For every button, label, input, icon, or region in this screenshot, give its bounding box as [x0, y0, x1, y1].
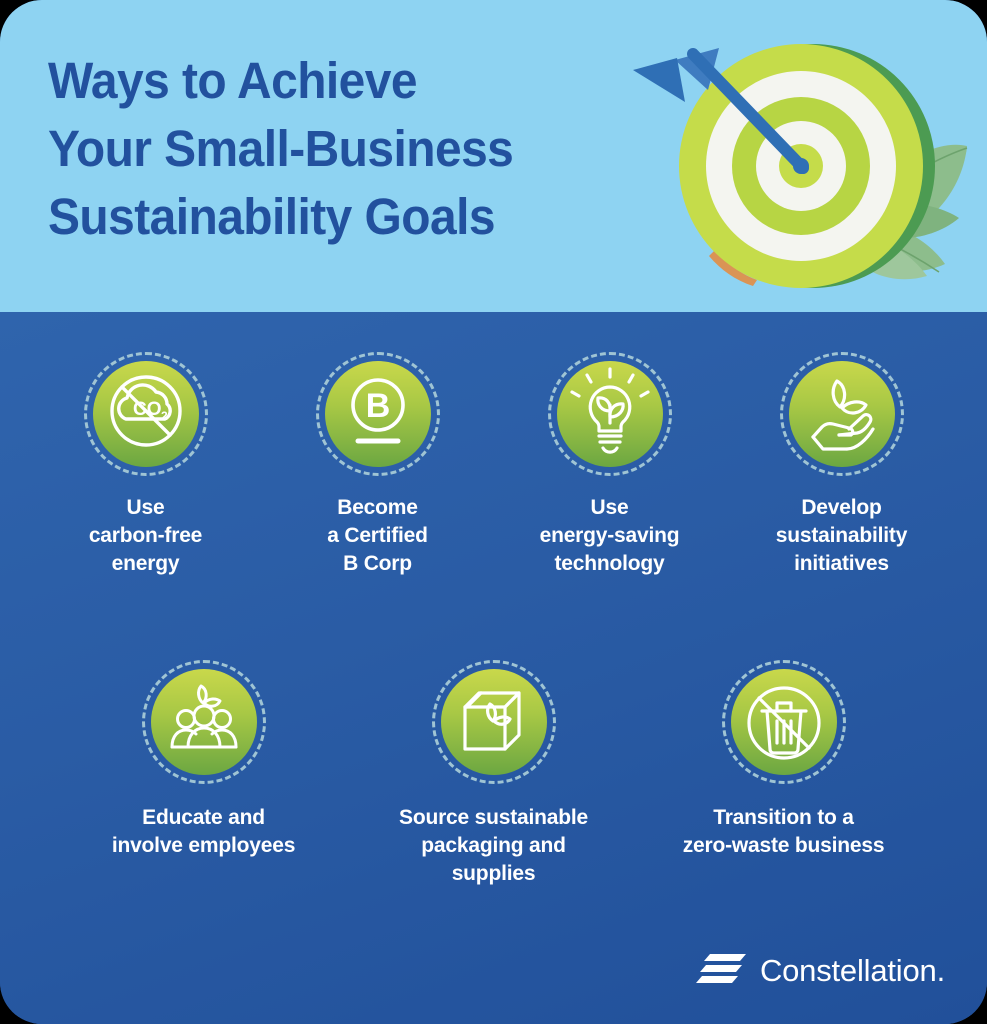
- tips-row-2: Educate and involve employees: [0, 660, 987, 888]
- constellation-logo[interactable]: Constellation.: [696, 952, 945, 988]
- tip-label: Develop sustainability initiatives: [776, 494, 907, 578]
- tip-item[interactable]: B Become a Certified B Corp: [262, 352, 494, 578]
- target-with-arrow-illustration: [615, 18, 987, 296]
- icon-badge: CO 2: [84, 352, 208, 476]
- tip-item[interactable]: Develop sustainability initiatives: [726, 352, 958, 578]
- content-area: CO 2 Use carbon-free energy: [0, 312, 987, 1024]
- constellation-chevron-mark: [696, 952, 748, 988]
- b-corp-icon: B: [325, 361, 431, 467]
- page-title: Ways to Achieve Your Small-Business Sust…: [48, 47, 631, 250]
- tip-label: Become a Certified B Corp: [327, 494, 428, 578]
- logo-wordmark: Constellation.: [760, 955, 945, 986]
- hand-holding-leaves-icon: [789, 361, 895, 467]
- tip-label: Transition to a zero-waste business: [683, 804, 885, 860]
- tip-item[interactable]: Source sustainable packaging and supplie…: [349, 660, 639, 888]
- tip-label: Use energy-saving technology: [540, 494, 680, 578]
- icon-badge: [722, 660, 846, 784]
- tip-label: Educate and involve employees: [112, 804, 295, 860]
- tip-label: Source sustainable packaging and supplie…: [399, 804, 588, 888]
- tip-item[interactable]: Educate and involve employees: [59, 660, 349, 888]
- box-with-leaves-icon: [441, 669, 547, 775]
- tips-row-1: CO 2 Use carbon-free energy: [0, 352, 987, 578]
- icon-badge: [142, 660, 266, 784]
- svg-text:B: B: [365, 387, 390, 425]
- tip-item[interactable]: Use energy-saving technology: [494, 352, 726, 578]
- tip-item[interactable]: CO 2 Use carbon-free energy: [30, 352, 262, 578]
- icon-badge: B: [316, 352, 440, 476]
- no-co2-icon: CO 2: [93, 361, 199, 467]
- icon-badge: [432, 660, 556, 784]
- icon-badge: [548, 352, 672, 476]
- people-with-leaf-icon: [151, 669, 257, 775]
- header-banner: Ways to Achieve Your Small-Business Sust…: [0, 0, 987, 312]
- svg-text:2: 2: [161, 409, 168, 423]
- infographic-card: Ways to Achieve Your Small-Business Sust…: [0, 0, 987, 1024]
- lightbulb-leaf-icon: [557, 361, 663, 467]
- no-trash-icon: [731, 669, 837, 775]
- icon-badge: [780, 352, 904, 476]
- tip-label: Use carbon-free energy: [89, 494, 202, 578]
- tip-item[interactable]: Transition to a zero-waste business: [639, 660, 929, 888]
